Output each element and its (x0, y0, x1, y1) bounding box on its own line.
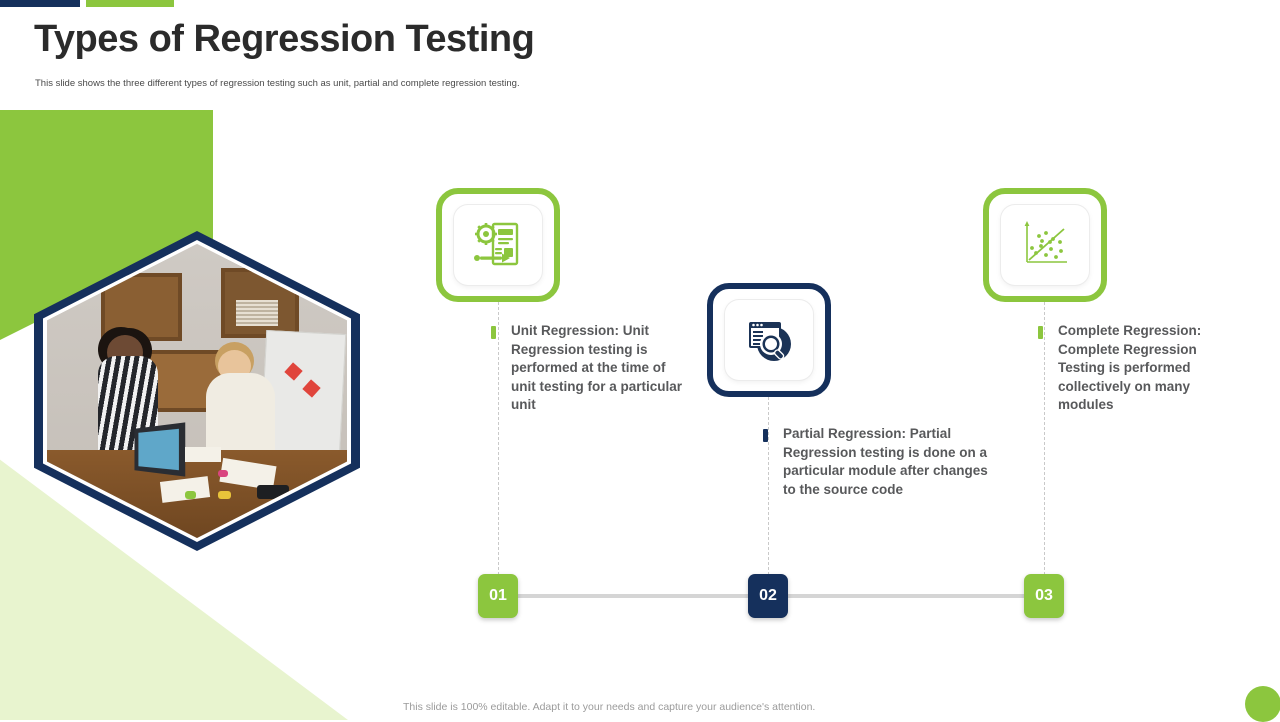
footer-note: This slide is 100% editable. Adapt it to… (403, 701, 815, 713)
description-text: Complete Regression: Complete Regression… (1058, 323, 1201, 412)
scatter-plot-regression-line-icon (1020, 220, 1070, 270)
step-badge-03[interactable]: 03 (1024, 574, 1064, 618)
description-unit-regression: Unit Regression: Unit Regression testing… (511, 322, 687, 415)
description-text: Partial Regression: Partial Regression t… (783, 426, 988, 497)
page-subtitle: This slide shows the three different typ… (35, 78, 520, 89)
step-badge-02[interactable]: 02 (748, 574, 788, 618)
bullet-marker (1038, 326, 1043, 339)
icon-card-unit-regression[interactable] (436, 188, 560, 302)
description-text: Unit Regression: Unit Regression testing… (511, 323, 682, 412)
accent-bar-green (86, 0, 174, 7)
description-complete-regression: Complete Regression: Complete Regression… (1058, 322, 1238, 415)
icon-card-inner (1001, 205, 1089, 285)
bullet-marker (763, 429, 768, 442)
document-gear-settings-icon (473, 220, 523, 270)
icon-card-inner (454, 205, 542, 285)
browser-window-magnifier-icon (744, 315, 794, 365)
icon-card-inner (725, 300, 813, 380)
description-partial-regression: Partial Regression: Partial Regression t… (783, 425, 998, 499)
icon-card-complete-regression[interactable] (983, 188, 1107, 302)
page-title: Types of Regression Testing (34, 18, 534, 61)
connector-dashed-line-3 (1044, 302, 1045, 580)
connector-dashed-line-1 (498, 302, 499, 580)
hexagon-photo-frame (34, 231, 360, 551)
icon-card-partial-regression[interactable] (707, 283, 831, 397)
connector-dashed-line-2 (768, 397, 769, 580)
accent-bar-navy (0, 0, 80, 7)
bullet-marker (491, 326, 496, 339)
corner-accent-dot (1245, 686, 1280, 722)
step-badge-01[interactable]: 01 (478, 574, 518, 618)
